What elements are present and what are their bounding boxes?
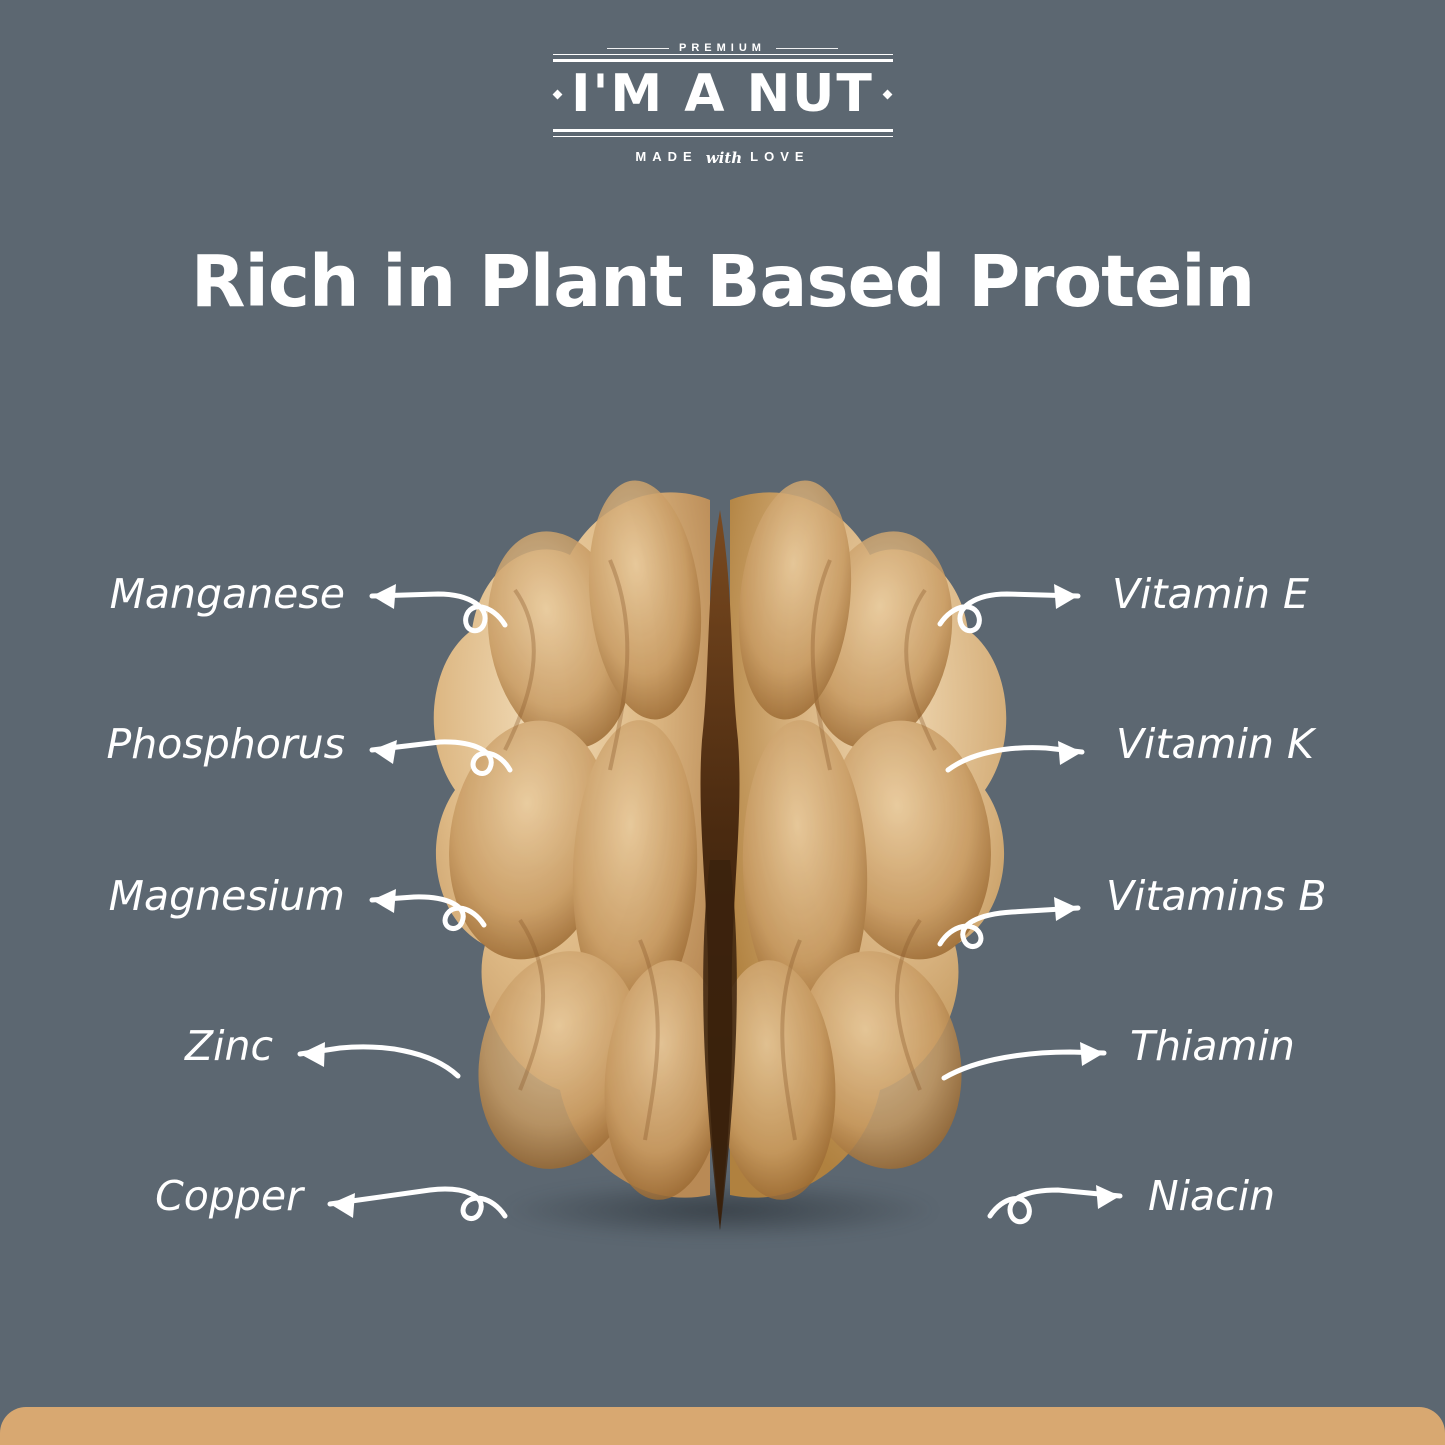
infographic-canvas: PREMIUM I'M A NUT MADE with LOVE Rich in… <box>0 0 1445 1445</box>
label-thiamin: Thiamin <box>1130 1026 1295 1067</box>
tagline-with: with <box>706 149 742 167</box>
brand-name: I'M A NUT <box>571 67 874 122</box>
tagline-love: LOVE <box>750 149 809 164</box>
arrowhead-manganese <box>372 584 396 609</box>
label-manganese: Manganese <box>110 574 345 615</box>
product-image <box>410 440 1030 1270</box>
arrowhead-magnesium <box>372 889 396 913</box>
arrowhead-niacin <box>1096 1185 1120 1209</box>
arrowhead-copper <box>330 1193 355 1218</box>
rule-left <box>607 48 669 49</box>
label-zinc: Zinc <box>185 1026 273 1067</box>
arrowhead-phosphorus <box>372 740 397 764</box>
diamond-icon-left <box>553 89 563 99</box>
walnut-illustration <box>410 440 1030 1270</box>
brand-logo: PREMIUM I'M A NUT MADE with LOVE <box>553 42 893 166</box>
arrowhead-thiamin <box>1080 1042 1104 1066</box>
label-vitamin-e: Vitamin E <box>1112 574 1309 615</box>
arrowhead-vitamin-k <box>1058 741 1082 765</box>
rule-right <box>776 48 838 49</box>
label-phosphorus: Phosphorus <box>107 724 345 765</box>
brand-premium-line: PREMIUM <box>553 42 893 54</box>
page-title: Rich in Plant Based Protein <box>0 240 1445 323</box>
arrowhead-vitamin-e <box>1054 584 1078 609</box>
label-copper: Copper <box>155 1176 303 1217</box>
arrowhead-zinc <box>300 1042 325 1067</box>
bottom-accent-bar <box>0 1407 1445 1445</box>
label-vitamins-b: Vitamins B <box>1106 876 1326 917</box>
tagline-made: MADE <box>635 149 697 164</box>
diamond-icon-right <box>882 89 892 99</box>
arrowhead-vitamins-b <box>1054 897 1078 921</box>
brand-premium-text: PREMIUM <box>679 42 766 54</box>
label-magnesium: Magnesium <box>109 876 345 917</box>
brand-name-row: I'M A NUT <box>553 67 893 122</box>
brand-tagline: MADE with LOVE <box>553 148 893 166</box>
label-vitamin-k: Vitamin K <box>1116 724 1314 765</box>
label-niacin: Niacin <box>1148 1176 1275 1217</box>
brand-frame: I'M A NUT <box>553 59 893 132</box>
